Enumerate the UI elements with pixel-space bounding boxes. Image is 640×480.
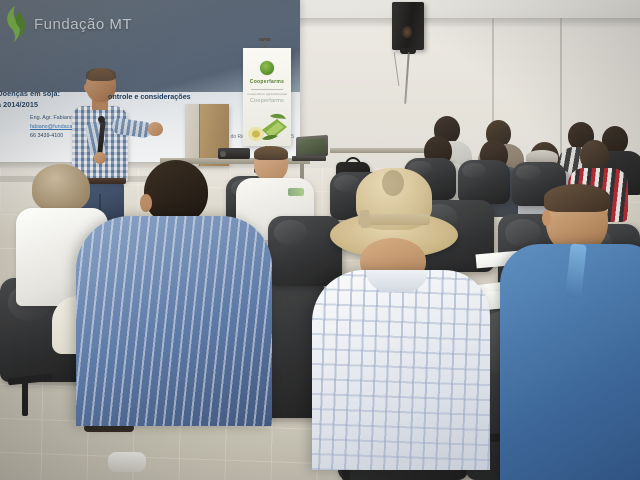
speaker-cone: [402, 26, 412, 38]
microphone-head: [98, 116, 105, 123]
wall-speaker-icon: [392, 2, 424, 50]
green-circle-leaf-icon: [259, 60, 275, 76]
hair: [254, 146, 288, 160]
banner-brand-text: Cooperfarms: [243, 79, 291, 85]
torso-striped-shirt: [312, 270, 490, 470]
straw-hat-bow: [359, 210, 371, 229]
seminar-room-photo: Fundação MT ntrole de Doenças em soja: a…: [0, 0, 640, 480]
projector-lens: [220, 151, 226, 157]
white-object-on-floor: [108, 452, 146, 472]
torso-striped-shirt: [76, 216, 272, 426]
chair[interactable]: [268, 216, 342, 286]
chair[interactable]: [458, 160, 510, 204]
ear: [542, 210, 551, 226]
green-leaf-figure-icon: [2, 4, 28, 44]
cabinet-edge: [199, 104, 200, 166]
head-hair: [144, 160, 208, 224]
presenter-mic-hand: [94, 152, 106, 164]
presenter-hair: [86, 68, 116, 81]
chair-column: [22, 380, 28, 416]
ear: [140, 194, 152, 212]
curly-hair: [32, 164, 90, 212]
fundacao-mt-logo: Fundação MT: [2, 4, 132, 44]
slide-title-line2: ontrole e considerações: [108, 92, 298, 101]
banner-rule: [251, 89, 283, 90]
straw-hat-crease: [382, 170, 404, 196]
banner-soy-artwork: [246, 110, 288, 143]
presenter-ear: [84, 83, 90, 92]
laptop-display: [299, 138, 325, 155]
hair: [544, 184, 610, 212]
presenter-open-hand: [148, 122, 163, 136]
laptop-keyboard: [292, 156, 326, 161]
fundacao-mt-logo-text: Fundação MT: [34, 16, 132, 33]
head: [580, 140, 609, 171]
shirt-logo: [288, 188, 304, 196]
side-table: [330, 148, 426, 153]
wall-pillar-edge: [560, 18, 562, 168]
cabinet-side-panel: [185, 104, 199, 166]
